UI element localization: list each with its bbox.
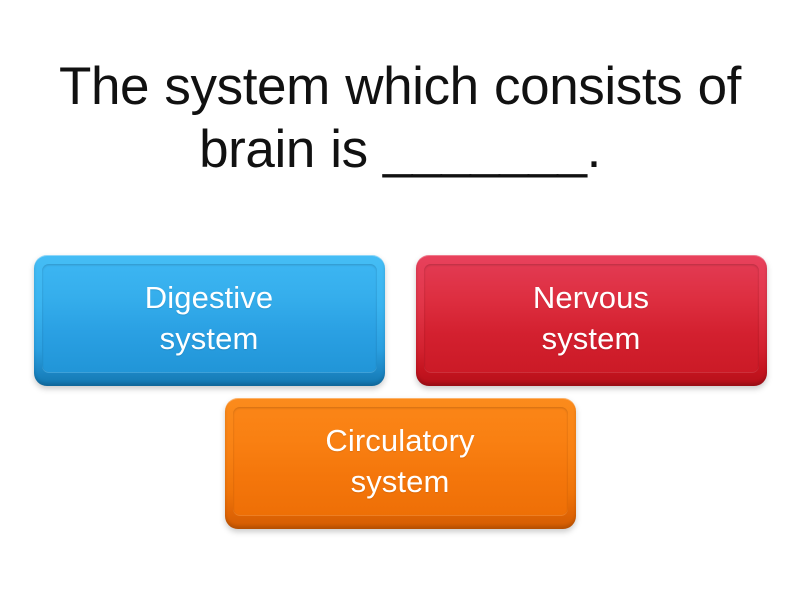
answer-option-label: Nervous system (533, 278, 649, 360)
answer-face: Circulatory system (233, 407, 568, 516)
answer-option-nervous-system[interactable]: Nervous system (416, 255, 767, 386)
question-text: The system which consists of brain is __… (18, 56, 782, 181)
answer-option-label: Circulatory system (325, 421, 474, 503)
answer-face: Digestive system (42, 264, 377, 373)
answer-face: Nervous system (424, 264, 759, 373)
answer-options-group: Digestive system Nervous system Circulat… (0, 251, 800, 551)
answer-row-1: Digestive system Nervous system (0, 255, 800, 386)
answer-option-digestive-system[interactable]: Digestive system (34, 255, 385, 386)
answer-option-label: Digestive system (145, 278, 273, 360)
quiz-stage: The system which consists of brain is __… (0, 0, 800, 600)
answer-row-2: Circulatory system (0, 398, 800, 529)
answer-option-circulatory-system[interactable]: Circulatory system (225, 398, 576, 529)
question-area: The system which consists of brain is __… (0, 56, 800, 181)
